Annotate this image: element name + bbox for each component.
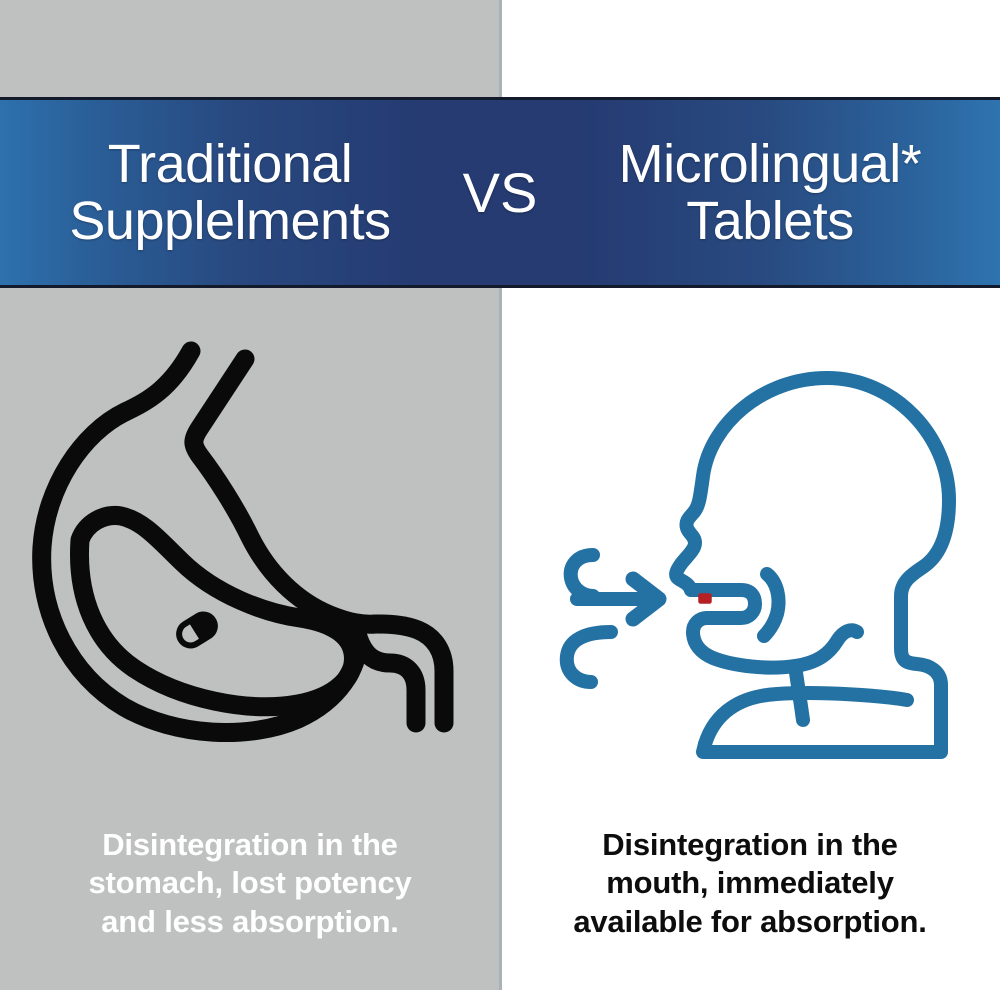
stomach-inner-fold	[79, 515, 353, 706]
header-title-right-line1: Microlingual*	[555, 136, 985, 192]
header-title-right-line2: Tablets	[555, 193, 985, 249]
header-title-left-line2: Supplelments	[15, 193, 445, 249]
stomach-with-capsule-illustration	[20, 325, 480, 755]
head-profile-with-mouth-tablet-illustration	[555, 360, 985, 775]
duodenum-outline	[358, 637, 416, 723]
header-title-right: Microlingual* Tablets	[555, 136, 985, 248]
comparison-infographic: Traditional Supplelments VS Microlingual…	[0, 0, 1000, 1000]
header-title-left: Traditional Supplelments	[15, 136, 445, 248]
cheek-crease-line	[764, 574, 779, 636]
right-caption-line1: Disintegration in the	[520, 826, 980, 864]
right-caption-line2: mouth, immediately	[520, 864, 980, 902]
header-vs-label: VS	[445, 160, 555, 225]
left-caption: Disintegration in the stomach, lost pote…	[20, 826, 480, 941]
header-title-left-line1: Traditional	[15, 136, 445, 192]
capsule-pill-group	[175, 610, 219, 650]
header-inner: Traditional Supplelments VS Microlingual…	[0, 100, 1000, 285]
left-caption-line3: and less absorption.	[20, 903, 480, 941]
right-caption: Disintegration in the mouth, immediately…	[520, 826, 980, 941]
sublingual-tablet-icon	[699, 594, 711, 603]
left-caption-line1: Disintegration in the	[20, 826, 480, 864]
airflow-swirl-bottom-icon	[567, 632, 611, 682]
airflow-swirl-top-icon	[571, 555, 593, 596]
left-caption-line2: stomach, lost potency	[20, 864, 480, 902]
right-caption-line3: available for absorption.	[520, 903, 980, 941]
header-band: Traditional Supplelments VS Microlingual…	[0, 97, 1000, 288]
